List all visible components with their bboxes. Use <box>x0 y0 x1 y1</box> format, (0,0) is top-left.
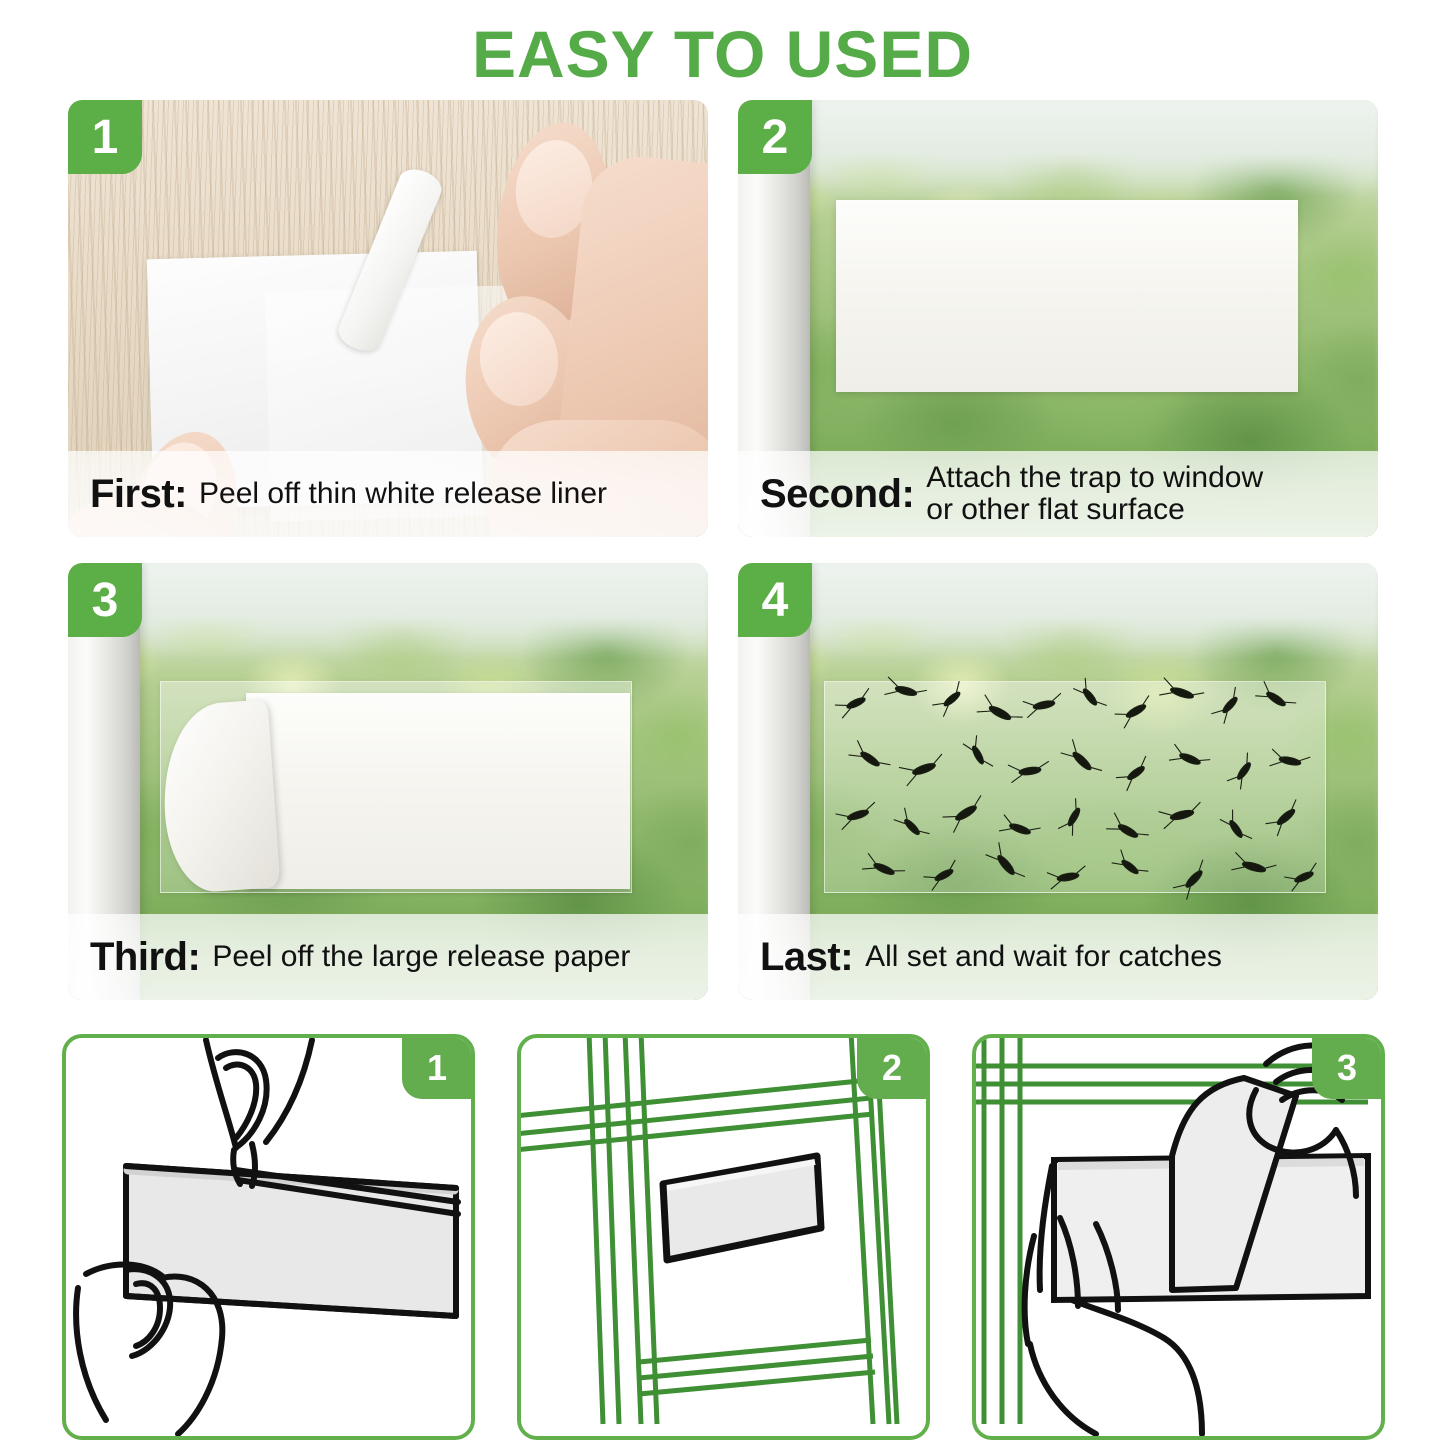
diagram-badge-1: 1 <box>402 1037 472 1099</box>
photo-caption-1: First: Peel off thin white release liner <box>68 451 708 537</box>
caption-body-3: Peel off the large release paper <box>212 941 630 973</box>
caption-body-4: All set and wait for catches <box>865 941 1222 973</box>
photo-step-3: 3 Third: Peel off the large release pape… <box>68 563 708 1000</box>
photo-caption-2: Second: Attach the trap to window or oth… <box>738 451 1378 537</box>
photo-caption-4: Last: All set and wait for catches <box>738 914 1378 1000</box>
caption-body-1: Peel off thin white release liner <box>199 478 607 510</box>
photo-step-badge-2: 2 <box>738 100 812 174</box>
caption-lead-1: First: <box>90 472 187 517</box>
caption-line-2: or other flat surface <box>926 494 1263 526</box>
photo-step-badge-3: 3 <box>68 563 142 637</box>
diagram-step-3: 3 <box>972 1034 1385 1440</box>
caption-lead-4: Last: <box>760 935 853 980</box>
sky-band <box>68 563 708 659</box>
release-paper-sheet <box>246 693 630 889</box>
photo-step-grid: 1 First: Peel off thin white release lin… <box>68 100 1378 1000</box>
diagram-step-1: 1 <box>62 1034 475 1440</box>
caption-lead-3: Third: <box>90 935 200 980</box>
photo-step-1: 1 First: Peel off thin white release lin… <box>68 100 708 537</box>
photo-caption-3: Third: Peel off the large release paper <box>68 914 708 1000</box>
window-with-trap-line-art <box>521 1038 926 1436</box>
photo-step-4: 4 Last: All set and wait for catches <box>738 563 1378 1000</box>
photo-step-badge-4: 4 <box>738 563 812 637</box>
diagram-step-2: 2 <box>517 1034 930 1440</box>
caption-line-1: Peel off thin white release liner <box>199 477 607 510</box>
photo-step-2: 2 Second: Attach the trap to window or o… <box>738 100 1378 537</box>
diagram-row: 1 <box>62 1034 1382 1442</box>
peel-release-paper-line-art <box>976 1038 1381 1436</box>
caption-line-1: Peel off the large release paper <box>212 940 630 973</box>
caption-line-1: Attach the trap to window <box>926 462 1263 494</box>
caption-body-2: Attach the trap to window or other flat … <box>926 462 1263 527</box>
peel-liner-line-art <box>66 1038 471 1436</box>
photo-step-badge-1: 1 <box>68 100 142 174</box>
diagram-badge-2: 2 <box>857 1037 927 1099</box>
diagram-badge-3: 3 <box>1312 1037 1382 1099</box>
poster-root: EASY TO USED 1 <box>0 0 1445 1445</box>
trap-strip <box>836 200 1298 392</box>
sky-band <box>738 100 1378 196</box>
caption-line-1: All set and wait for catches <box>865 940 1222 973</box>
caption-lead-2: Second: <box>760 472 914 517</box>
page-title: EASY TO USED <box>0 16 1445 92</box>
